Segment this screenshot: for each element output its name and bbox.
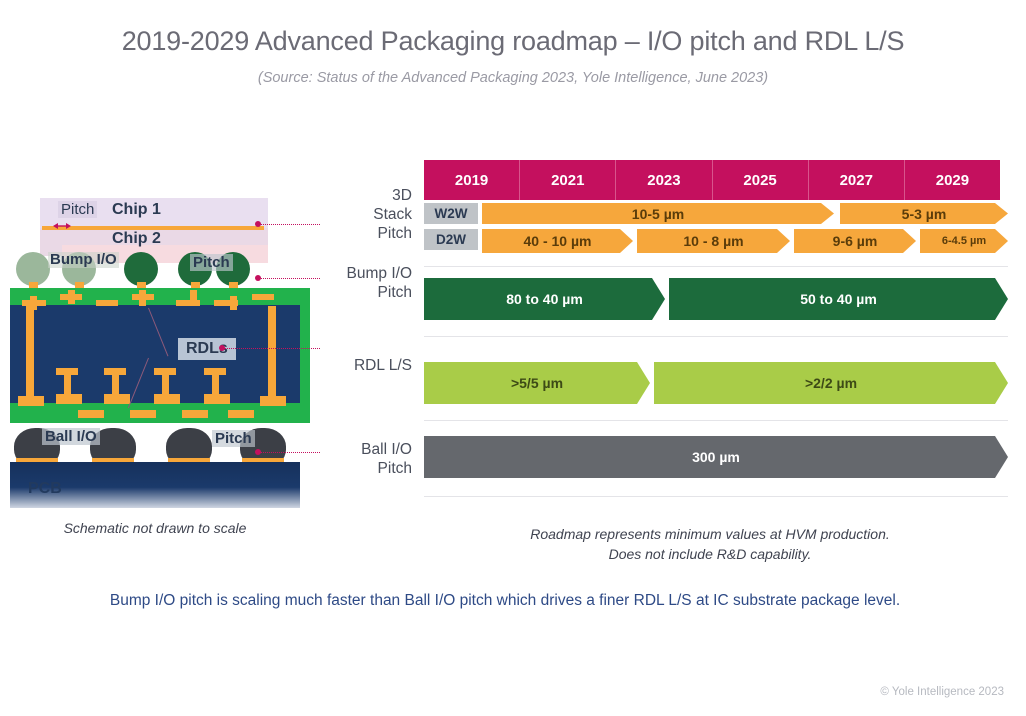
micro-via [112, 372, 119, 394]
inner-pad [154, 368, 176, 375]
chip1-label: Chip 1 [112, 201, 161, 219]
micro-via [230, 296, 237, 310]
micro-via [68, 290, 75, 304]
bump-ball [124, 252, 158, 286]
year-cell-2021[interactable]: 2021 [520, 160, 616, 200]
bar-d2w-segment-3[interactable]: 9-6 µm [794, 229, 916, 253]
schematic-note: Schematic not drawn to scale [0, 520, 310, 536]
source-subtitle: (Source: Status of the Advanced Packagin… [0, 70, 1026, 86]
bar-w2w-segment-2[interactable]: 5-3 µm [840, 203, 1008, 224]
micro-via [162, 372, 169, 394]
top-pad [252, 294, 274, 300]
via-landing-pad [260, 396, 286, 406]
micro-via [139, 290, 146, 306]
rdls-label: RDLs [178, 338, 236, 360]
year-cell-2023[interactable]: 2023 [616, 160, 712, 200]
ball-io-label: Ball I/O [42, 428, 100, 445]
ball-io-label-text: Ball I/O [45, 428, 97, 445]
chip2-label: Chip 2 [112, 230, 161, 248]
pcb-label: PCB [28, 480, 62, 498]
bump-io-label-text: Bump I/O [50, 251, 117, 268]
bar-rdl-segment-2[interactable]: >2/2 µm [654, 362, 1008, 404]
row-label-3d-stack-pitch: 3D Stack Pitch [320, 186, 412, 243]
row-label-line2: Pitch [300, 459, 412, 478]
slide-root: 2019-2029 Advanced Packaging roadmap – I… [0, 0, 1026, 716]
row-label-bump-io-pitch: Bump I/O Pitch [300, 264, 412, 302]
through-via [268, 306, 276, 402]
bar-ball-io-segment-1[interactable]: 300 µm [424, 436, 1008, 478]
row-label-line1: RDL L/S [300, 356, 412, 375]
row-label-line1: Bump I/O [300, 264, 412, 283]
tag-d2w: D2W [424, 229, 478, 250]
bar-w2w-segment-1[interactable]: 10-5 µm [482, 203, 834, 224]
page-title: 2019-2029 Advanced Packaging roadmap – I… [0, 26, 1026, 57]
top-pad [96, 300, 118, 306]
row-separator [424, 496, 1008, 497]
bar-d2w-segment-2[interactable]: 10 - 8 µm [637, 229, 790, 253]
pitch-double-arrow-icon [53, 222, 71, 230]
bump-io-label: Bump I/O [48, 252, 119, 268]
bar-bump-io-segment-1[interactable]: 80 to 40 µm [424, 278, 665, 320]
inner-pad [56, 368, 78, 375]
through-via [26, 306, 34, 402]
year-cell-2029[interactable]: 2029 [905, 160, 1000, 200]
tag-w2w: W2W [424, 203, 478, 224]
row-label-line3: Pitch [320, 224, 412, 243]
year-cell-2027[interactable]: 2027 [809, 160, 905, 200]
year-cell-2025[interactable]: 2025 [713, 160, 809, 200]
bar-d2w-segment-1[interactable]: 40 - 10 µm [482, 229, 633, 253]
connector-dot [219, 345, 225, 351]
connector-dot [255, 449, 261, 455]
year-cell-2019[interactable]: 2019 [424, 160, 520, 200]
bump-ball [16, 252, 50, 286]
roadmap-note-line2: Does not include R&D capability. [400, 544, 1020, 564]
schematic-pitch-top-label: Pitch [58, 201, 97, 218]
roadmap-note: Roadmap represents minimum values at HVM… [400, 524, 1020, 564]
bar-d2w-segment-4[interactable]: 6-4.5 µm [920, 229, 1008, 253]
schematic-pitch-ball-label: Pitch [212, 430, 255, 447]
year-header-row: 2019 2021 2023 2025 2027 2029 [424, 160, 1000, 200]
row-label-rdl-ls: RDL L/S [300, 356, 412, 375]
copyright-text: © Yole Intelligence 2023 [880, 686, 1004, 698]
bottom-pad [204, 394, 230, 404]
connector-dot [255, 221, 261, 227]
bottom-pad [154, 394, 180, 404]
micro-via [64, 372, 71, 394]
bottom-pad [182, 410, 208, 418]
micro-via [212, 372, 219, 394]
bottom-pad [78, 410, 104, 418]
row-label-line1: Ball I/O [300, 440, 412, 459]
bottom-pad [130, 410, 156, 418]
inner-pad [104, 368, 126, 375]
connector-stack [258, 224, 320, 225]
connector-dot [255, 275, 261, 281]
bottom-pad [228, 410, 254, 418]
row-label-line1: 3D [320, 186, 412, 205]
row-label-line2: Stack [320, 205, 412, 224]
bottom-pad [104, 394, 130, 404]
row-separator [424, 420, 1008, 421]
takeaway-text: Bump I/O pitch is scaling much faster th… [0, 592, 1010, 610]
inner-pad [204, 368, 226, 375]
substrate-core [10, 305, 300, 403]
bar-rdl-segment-1[interactable]: >5/5 µm [424, 362, 650, 404]
via-landing-pad [18, 396, 44, 406]
schematic-pitch-bump-label: Pitch [190, 254, 233, 271]
bar-bump-io-segment-2[interactable]: 50 to 40 µm [669, 278, 1008, 320]
row-separator [424, 336, 1008, 337]
roadmap-note-line1: Roadmap represents minimum values at HVM… [400, 524, 1020, 544]
bottom-pad [56, 394, 82, 404]
row-separator [424, 266, 1008, 267]
row-label-line2: Pitch [300, 283, 412, 302]
connector-rdl [222, 348, 320, 349]
micro-via [190, 290, 197, 306]
package-schematic: Pitch Chip 1 Chip 2 Bump I/O Pitch [0, 190, 312, 510]
row-label-ball-io-pitch: Ball I/O Pitch [300, 440, 412, 478]
